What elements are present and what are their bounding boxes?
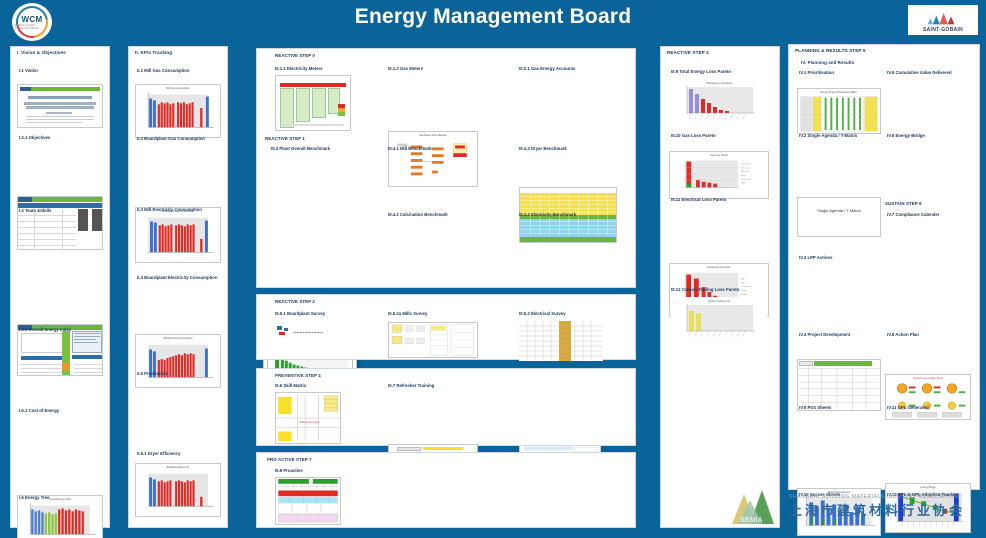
item-label-energy-tree: I.6 Energy Tree <box>19 495 50 500</box>
thumb-total-energy-loss-pareto[interactable]: Total Energy Loss Pareto <box>671 79 767 125</box>
saint-gobain-logo: SAINT-GOBAIN <box>908 5 978 35</box>
wcm-logo-text: WCM <box>22 15 43 24</box>
item-label-cost-of-energy: I.5.1 Cost of Energy <box>19 408 59 413</box>
placeholder-single-agenda-text: Single Agenda / T-Matrix <box>817 198 861 213</box>
thumb-mill-electricity-consumption[interactable]: Mill Electricity Consumption <box>135 334 221 388</box>
thumb-lpp-actions[interactable] <box>797 359 881 411</box>
saint-gobain-mark-icon <box>923 11 963 27</box>
item-label-gas-meters: III.1.2 Gas Meters <box>388 66 423 71</box>
panel-title-kpis: II. KPIs Tracking <box>129 47 227 55</box>
item-label-team-skills: I.3 Team &Skills <box>19 208 51 213</box>
svg-text:⌁⌁⌁⌁⌁⌁⌁⌁⌁⌁: ⌁⌁⌁⌁⌁⌁⌁⌁⌁⌁ <box>293 330 323 336</box>
thumb-electrical-survey[interactable] <box>519 321 603 361</box>
panel-preventive-step4: PREVENTIVE STEP 4 III.6 Skill Matrix Pla… <box>256 368 636 446</box>
panel-title-planning: PLANNING & RESULTS STEP 5 <box>789 45 979 53</box>
thumb-prioritisation[interactable]: Energy Project Prioritisation Matrix <box>797 88 881 134</box>
thumb-electricity-meters[interactable] <box>275 75 351 131</box>
sbmia-mark-icon: SBMIA <box>730 486 784 526</box>
thumb-skill-matrix[interactable]: Planned vs Actual <box>275 392 341 444</box>
svg-text:Steam Leaks: Steam Leaks <box>741 178 751 181</box>
panel-title-vision: I. Vision & Objectives <box>11 47 109 55</box>
thumb-proactive[interactable] <box>275 477 341 525</box>
panel-planning-results: PLANNING & RESULTS STEP 5 IV. Planning a… <box>788 44 980 490</box>
item-label-boardplant-gas-consumption: II.2 Boardplant Gas Consumption <box>137 136 205 141</box>
panel-reactive-step2: REACTIVE STEP 2 III.5.1 Boardplant Surve… <box>256 294 636 360</box>
energy-management-board: WCM WORLD CLASS MANUFACTURING Energy Man… <box>0 0 986 538</box>
sbmia-name-cn: 上海市建筑材料行业协会 <box>789 500 965 519</box>
thumb-carbon-trading-loss-pareto[interactable]: Carbon Trading Loss <box>671 297 767 343</box>
svg-text:Dryer Losses: Dryer Losses <box>741 162 751 165</box>
sbmia-abbr-text: SBMIA <box>740 517 763 524</box>
item-label-lpp-actions: IV.3 LPP Actions <box>799 255 833 260</box>
section-title-proactive-step7: PRO ACTIVE STEP 7 <box>267 457 312 462</box>
thumb-gas-loss-pareto[interactable]: Gas Loss Pareto Dryer LossesKiln Losses … <box>669 151 769 199</box>
thumb-single-agenda-tmatrix[interactable]: Single Agenda / T-Matrix <box>797 197 881 237</box>
svg-text:Pumps: Pumps <box>741 290 746 292</box>
item-label-electrical-survey: III.5.3 Electrical Survey <box>519 311 566 316</box>
item-label-production: II.5 Production <box>137 371 167 376</box>
board-header: WCM WORLD CLASS MANUFACTURING Energy Man… <box>0 0 986 44</box>
svg-text:Planned vs Actual: Planned vs Actual <box>299 421 319 424</box>
item-label-electricity-meters: III.1.1 Electricity Meters <box>275 66 323 71</box>
svg-text:Mill Losses: Mill Losses <box>741 171 750 173</box>
section-title-preventive-step4: PREVENTIVE STEP 4 <box>275 373 321 378</box>
saint-gobain-wordmark: SAINT-GOBAIN <box>923 27 963 33</box>
sbmia-logo: SBMIA SHANGHAI BUILDING MATERIALS INDUST… <box>730 484 980 528</box>
svg-text:Carbon Trading Loss: Carbon Trading Loss <box>708 300 731 303</box>
item-label-energy-bridge: IV.6 Energy Bridge <box>887 133 925 138</box>
item-label-skill-matrix: III.6 Skill Matrix <box>275 383 306 388</box>
svg-text:Total Energy Loss Pareto: Total Energy Loss Pareto <box>706 82 733 85</box>
sbmia-wordmark: SHANGHAI BUILDING MATERIALS INDUSTRY ASS… <box>789 494 965 519</box>
thumb-boardplant-electricity-consumption[interactable]: Boardplant Electricity <box>135 463 221 517</box>
svg-text:Fans: Fans <box>741 282 745 284</box>
item-label-overall-energy-index: I.4.1 Overall Energy Index <box>19 327 71 332</box>
item-label-dryer-benchmark: III.4.3 Dryer Benchmark <box>519 146 567 151</box>
item-label-refresher-training: III.7 Refresher Training <box>388 383 434 388</box>
thumb-objectives[interactable] <box>17 196 103 250</box>
svg-text:Lighting: Lighting <box>741 293 747 296</box>
item-label-vision: I.1 Vision <box>19 68 38 73</box>
panel-reactive-step3: REACTIVE STEP 3 III.9 Total Energy Loss … <box>660 46 780 528</box>
item-label-mill-electricity-consumption: II.3 Mill Electricity Consumption <box>137 207 202 212</box>
item-label-proactive: III.8 Proactive <box>275 468 303 473</box>
item-label-electrical-loss-pareto: III.11 Electrical Loss Pareto <box>671 197 726 202</box>
thumb-mill-gas-consumption[interactable]: Mill Gas Consumption <box>135 84 221 138</box>
thumb-overall-energy-index[interactable]: Overall Energy Index <box>17 495 103 538</box>
item-label-plant-overall-benchmark: III.3 Plant Overall Benchmark <box>271 146 330 151</box>
section-title-reactive-step0: REACTIVE STEP 0 <box>275 53 315 58</box>
item-label-pss-sheets: IV.9 PSS Sheets <box>799 405 831 410</box>
item-label-dryer-efficiency: II.6.1 Dryer Efficiency <box>137 451 180 456</box>
section-title-sustain-step6: SUSTAIN STEP 6 <box>885 201 922 206</box>
item-label-single-agenda-tmatrix: IV.2 Single Agenda / T-Matrix <box>799 133 857 138</box>
section-title-reactive-step1: REACTIVE STEP 1 <box>265 136 305 141</box>
item-label-boardplant-survey: III.5.1 Boardplant Survey <box>275 311 325 316</box>
item-label-gas-energy-accounts: III.2.1 Gas Energy Accounts <box>519 66 575 71</box>
thumb-boardplant-gas-consumption[interactable]: Boardplant Gas Consumption <box>135 207 221 263</box>
svg-text:Mills: Mills <box>741 278 745 280</box>
thumb-cumulative-value-delivered[interactable]: Energy Consumption Trend <box>885 374 971 420</box>
thumb-gas-meters[interactable]: Gas Meters Flow Diagram <box>388 131 478 187</box>
item-label-project-development: IV.4 Project Development <box>799 332 850 337</box>
panel-reactive-step0: REACTIVE STEP 0 III.1.1 Electricity Mete… <box>256 48 636 288</box>
sbmia-name-en: SHANGHAI BUILDING MATERIALS INDUSTRY ASS… <box>789 494 965 500</box>
svg-text:Boiler: Boiler <box>741 174 746 177</box>
item-label-prioritisation: IV.1 Prioritisation <box>799 70 834 75</box>
item-label-mill-gas-consumption: II.1 Mill Gas Consumption <box>137 68 190 73</box>
item-label-gas-loss-pareto: III.10 Gas Loss Pareto <box>671 133 716 138</box>
panel-kpis-tracking: II. KPIs Tracking II.1 Mill Gas Consumpt… <box>128 46 228 528</box>
thumb-boardplant-survey[interactable]: ⌁⌁⌁⌁⌁⌁⌁⌁⌁⌁ <box>275 322 351 342</box>
item-label-carbon-trading-loss-pareto: III.12 Carbon Trading Loss Pareto <box>671 287 739 292</box>
item-label-mill-benchmark: III.4.1 Mill Benchmark <box>388 146 432 151</box>
item-label-boardplant-electricity-consumption: II.4 Boardplant Electricity Consumption <box>137 275 217 280</box>
wcm-logo-subtext: WORLD CLASS MANUFACTURING <box>14 24 50 30</box>
panel-proactive-step7: PRO ACTIVE STEP 7 III.8 Proactive <box>256 452 636 528</box>
svg-text:Other: Other <box>741 182 746 185</box>
panel-title-reactive-step3: REACTIVE STEP 3 <box>661 47 779 55</box>
item-label-total-energy-loss-pareto: III.9 Total Energy Loss Pareto <box>671 69 731 74</box>
item-label-objectives: I.2.1 Objectives <box>19 135 50 140</box>
svg-text:Compressors: Compressors <box>741 285 751 288</box>
section-title-reactive-step2: REACTIVE STEP 2 <box>275 299 315 304</box>
section-title-planning-results: IV. Planning and Results <box>801 60 854 65</box>
item-label-mills-survey: III.5.2a Mills Survey <box>388 311 427 316</box>
svg-text:Kiln Losses: Kiln Losses <box>741 167 750 169</box>
item-label-calcination-benchmark: III.4.1 Calcination Benchmark <box>388 212 448 217</box>
thumb-vision[interactable] <box>17 84 103 128</box>
item-label-action-plan: IV.8 Action Plan <box>887 332 919 337</box>
thumb-mills-survey[interactable] <box>388 322 478 358</box>
item-label-gpl-generated: IV.11 GPL Generated <box>887 405 929 410</box>
item-label-cumulative-value-delivered: IV.5 Cumulative Value Delivered <box>887 70 952 75</box>
panel-vision-objectives: I. Vision & Objectives I.1 Vision I.2.1 … <box>10 46 110 528</box>
item-label-compliance-calender: IV.7 Compliance Calender <box>887 212 939 217</box>
page-title: Energy Management Board <box>0 5 986 29</box>
item-label-electricity-benchmark: III.4.4 Electricity Benchmark <box>519 212 576 217</box>
